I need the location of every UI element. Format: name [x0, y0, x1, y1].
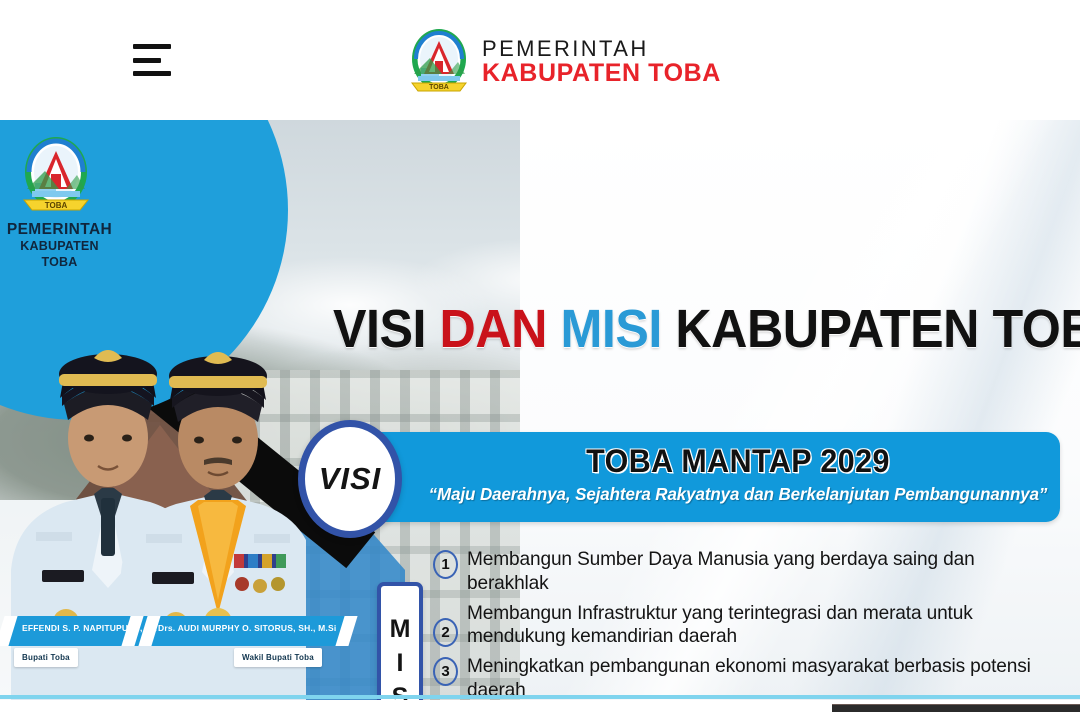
- official-role: Bupati Toba: [14, 648, 78, 667]
- banner-headline: VISI DAN MISI KABUPATEN TOBA: [333, 298, 1080, 360]
- toba-regency-crest-icon: TOBA: [408, 28, 470, 96]
- headline-word-misi: MISI: [560, 299, 661, 359]
- bottom-accent-strip: [0, 695, 1080, 699]
- visi-misi-banner: TOBA PEMERINTAH KABUPATEN TOBA VISI DAN …: [0, 120, 1080, 700]
- site-brand[interactable]: TOBA PEMERINTAH KABUPATEN TOBA: [408, 28, 721, 96]
- official-role: Wakil Bupati Toba: [234, 648, 322, 667]
- site-header: TOBA PEMERINTAH KABUPATEN TOBA: [0, 0, 1080, 120]
- bottom-scrollbar[interactable]: [832, 704, 1080, 712]
- mission-number: 2: [433, 618, 458, 647]
- misi-letter-m: M: [390, 617, 411, 642]
- misi-letter-i1: I: [397, 651, 404, 676]
- mission-text: Meningkatkan pembangunan ekonomi masyara…: [467, 655, 1036, 700]
- mission-list: 1 Membangun Sumber Daya Manusia yang ber…: [433, 548, 1048, 700]
- mission-item: 2 Membangun Infrastruktur yang terintegr…: [433, 602, 1048, 650]
- mission-text: Membangun Sumber Daya Manusia yang berda…: [467, 548, 1036, 596]
- misi-badge: M I S I: [377, 582, 423, 700]
- visi-badge: VISI: [298, 420, 402, 538]
- hamburger-menu-icon[interactable]: [133, 44, 173, 76]
- officials-nameplates: EFFENDI S. P. NAPITUPULU, SE Drs. AUDI M…: [0, 616, 360, 678]
- brand-line-pemerintah: PEMERINTAH: [482, 37, 721, 61]
- headline-word-visi: VISI: [333, 299, 426, 359]
- vision-statement-bar: TOBA MANTAP 2029 “Maju Daerahnya, Sejaht…: [356, 432, 1060, 522]
- mission-number: 3: [433, 657, 458, 686]
- brand-line-kabupaten-toba: KABUPATEN TOBA: [482, 60, 721, 87]
- vision-tagline: “Maju Daerahnya, Sejahtera Rakyatnya dan…: [426, 484, 1051, 505]
- headline-word-kabupaten-toba: KABUPATEN TOBA: [675, 299, 1080, 359]
- vision-title: TOBA MANTAP 2029: [432, 443, 1044, 480]
- svg-text:TOBA: TOBA: [429, 84, 449, 91]
- mission-number: 1: [433, 550, 458, 579]
- hamburger-line-2: [133, 58, 161, 63]
- hamburger-line-3: [133, 71, 171, 76]
- visi-badge-label: VISI: [319, 461, 382, 497]
- official-name: Drs. AUDI MURPHY O. SITORUS, SH., M.Si: [158, 623, 336, 633]
- hamburger-line-1: [133, 44, 171, 49]
- mission-item: 1 Membangun Sumber Daya Manusia yang ber…: [433, 548, 1048, 596]
- mission-text: Membangun Infrastruktur yang terintegras…: [467, 602, 1036, 650]
- mission-item: 3 Meningkatkan pembangunan ekonomi masya…: [433, 655, 1048, 700]
- headline-word-dan: DAN: [440, 299, 547, 359]
- official-name: EFFENDI S. P. NAPITUPULU, SE: [22, 623, 157, 633]
